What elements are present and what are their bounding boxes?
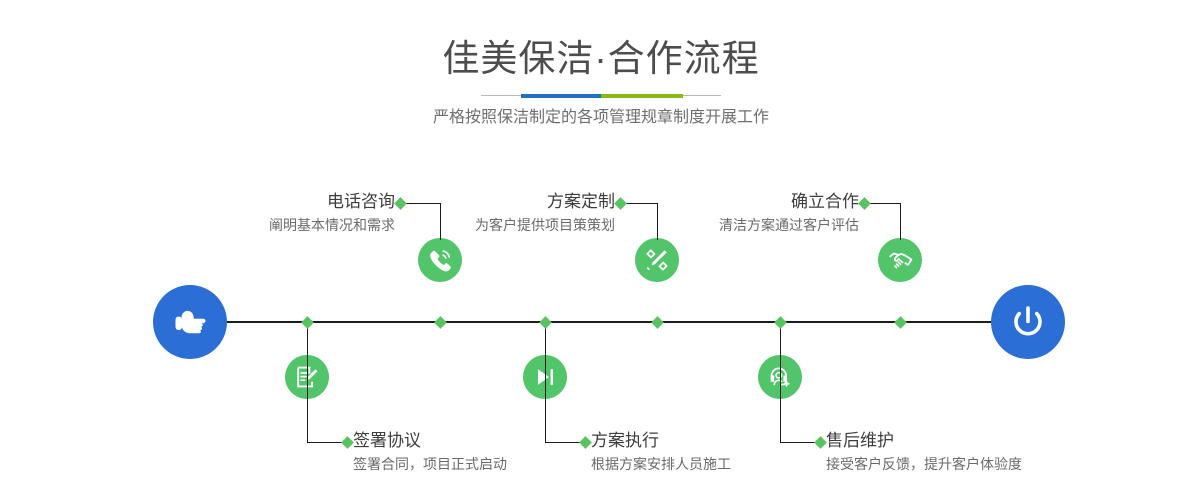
connector-vertical-2 bbox=[307, 322, 308, 442]
timeline-end-node bbox=[991, 285, 1065, 359]
step-desc-3: 为客户提供项目策策划 bbox=[375, 214, 615, 236]
step-desc-1: 阐明基本情况和需求 bbox=[155, 214, 395, 236]
connector-diamond-5 bbox=[858, 197, 871, 210]
title-divider bbox=[481, 94, 721, 98]
pointing-hand-icon bbox=[170, 302, 210, 342]
axis-diamond-2 bbox=[301, 316, 314, 329]
step-label-5: 确立合作 清洁方案通过客户评估 bbox=[619, 190, 859, 236]
axis-diamond-1 bbox=[434, 316, 447, 329]
axis-diamond-5 bbox=[894, 316, 907, 329]
connector-vertical-5 bbox=[900, 203, 901, 240]
step-label-1: 电话咨询 阐明基本情况和需求 bbox=[155, 190, 395, 236]
connector-vertical-4 bbox=[545, 322, 546, 442]
phone-ring-icon bbox=[427, 247, 453, 273]
divider-segment-green bbox=[601, 94, 683, 98]
axis-diamond-3 bbox=[651, 316, 664, 329]
axis-diamond-4 bbox=[539, 316, 552, 329]
step-title-6: 售后维护 bbox=[826, 429, 1156, 453]
page-subtitle: 严格按照保洁制定的各项管理规章制度开展工作 bbox=[0, 106, 1202, 130]
page-title: 佳美保洁·合作流程 bbox=[0, 36, 1202, 82]
connector-vertical-6 bbox=[780, 322, 781, 442]
step-label-3: 方案定制 为客户提供项目策策划 bbox=[375, 190, 615, 236]
cooperation-process-infographic: 佳美保洁·合作流程 严格按照保洁制定的各项管理规章制度开展工作 bbox=[0, 0, 1202, 502]
step-icon-3 bbox=[635, 238, 679, 282]
step-desc-5: 清洁方案通过客户评估 bbox=[619, 214, 859, 236]
step-title-1: 电话咨询 bbox=[155, 190, 395, 214]
step-desc-6: 接受客户反馈，提升客户体验度 bbox=[826, 453, 1156, 475]
axis-diamond-6 bbox=[774, 316, 787, 329]
step-icon-5 bbox=[878, 238, 922, 282]
step-title-5: 确立合作 bbox=[619, 190, 859, 214]
pencil-ruler-icon bbox=[644, 247, 670, 273]
divider-segment-blue bbox=[521, 94, 601, 98]
step-label-6: 售后维护 接受客户反馈，提升客户体验度 bbox=[826, 429, 1156, 475]
handshake-icon bbox=[887, 247, 914, 274]
connector-diamond-2 bbox=[341, 436, 354, 449]
timeline-start-node bbox=[153, 285, 227, 359]
step-title-3: 方案定制 bbox=[375, 190, 615, 214]
power-icon bbox=[1007, 301, 1049, 343]
step-icon-1 bbox=[418, 238, 462, 282]
